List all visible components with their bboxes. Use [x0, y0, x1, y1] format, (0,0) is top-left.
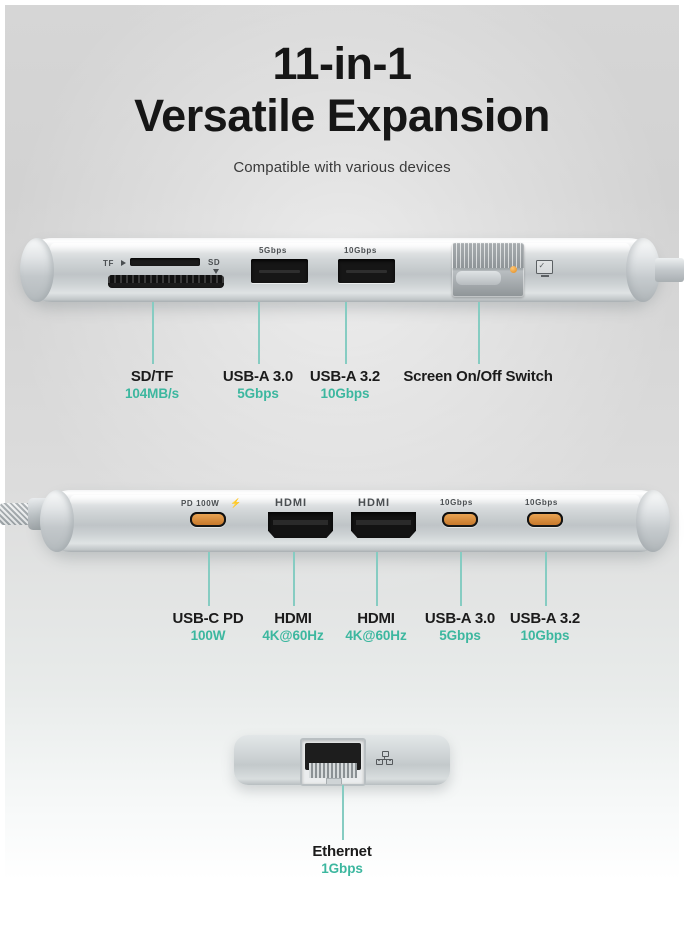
usba-5gbps-marking-label: 5Gbps [259, 246, 287, 255]
callout-usb-a-32-spec: 10Gbps [245, 386, 445, 402]
usbc-10gbps-marking-label-1: 10Gbps [440, 498, 473, 507]
tf-card-slot[interactable] [130, 258, 200, 266]
strip-front-highlight [50, 243, 630, 253]
hub-strip-front: TF SD 5Gbps 10Gbps ✓ [20, 238, 660, 302]
switch-status-indicator [510, 266, 517, 273]
usb-c-port-10gbps-2[interactable] [527, 512, 563, 527]
leader-line-ethernet [342, 785, 344, 840]
leader-line-screen-switch [478, 302, 480, 364]
callout-usb-a-32-b: USB-A 3.2 10Gbps [445, 610, 645, 644]
usb-a-port-5gbps[interactable] [251, 259, 308, 283]
sd-marking-label: SD [208, 258, 220, 267]
usb-a-port-10gbps[interactable] [338, 259, 395, 283]
header-block: 11-in-1 Versatile Expansion Compatible w… [0, 40, 684, 176]
leader-line-usb-a-32-b [545, 552, 547, 606]
ethernet-module [234, 735, 450, 785]
monitor-check-glyph: ✓ [539, 262, 546, 270]
rj45-ethernet-port[interactable] [300, 738, 366, 786]
sd-arrow-icon [213, 269, 219, 274]
callout-ethernet: Ethernet 1Gbps [242, 843, 442, 877]
callout-screen-switch-label: Screen On/Off Switch [378, 368, 578, 385]
callout-ethernet-label: Ethernet [242, 843, 442, 860]
usba-10gbps-marking-label: 10Gbps [344, 246, 377, 255]
tf-arrow-icon [121, 260, 126, 266]
switch-knob[interactable] [456, 271, 501, 285]
hdmi-marking-label-1: HDMI [275, 497, 307, 509]
tf-marking-label: TF [103, 259, 114, 268]
usb-c-port-10gbps-1[interactable] [442, 512, 478, 527]
leader-line-sd-tf [152, 302, 154, 364]
front-strip-cable-stub [655, 258, 684, 282]
leader-line-usb-c-pd [208, 552, 210, 606]
sd-card-slot[interactable] [108, 275, 224, 288]
callout-ethernet-spec: 1Gbps [242, 861, 442, 877]
leader-line-usb-a-30-b [460, 552, 462, 606]
hdmi-marking-label-2: HDMI [358, 497, 390, 509]
switch-ridges [452, 243, 524, 268]
title-line-2: Versatile Expansion [0, 91, 684, 141]
subtitle: Compatible with various devices [0, 159, 684, 176]
title-line-1: 11-in-1 [0, 40, 684, 89]
power-bolt-icon: ⚡ [230, 498, 241, 509]
callout-screen-switch: Screen On/Off Switch [378, 368, 578, 386]
strip-rear-left-cap [40, 490, 74, 552]
usb-c-pd-port[interactable] [190, 512, 226, 527]
hub-strip-rear: PD 100W ⚡ HDMI HDMI 10Gbps 10Gbps [40, 490, 670, 552]
strip-front-left-cap [20, 238, 54, 302]
leader-line-hdmi-1 [293, 552, 295, 606]
rj45-latch-tab [326, 778, 343, 786]
pd-marking-label: PD 100W [181, 499, 219, 508]
hdmi-port-2[interactable] [351, 512, 416, 538]
strip-rear-right-cap [636, 490, 670, 552]
leader-line-usb-a-30 [258, 302, 260, 364]
leader-line-hdmi-2 [376, 552, 378, 606]
callout-usb-a-32-b-label: USB-A 3.2 [445, 610, 645, 627]
usbc-10gbps-marking-label-2: 10Gbps [525, 498, 558, 507]
rj45-pins [309, 763, 356, 778]
callout-usb-a-32-b-spec: 10Gbps [445, 628, 645, 644]
infographic-page: 11-in-1 Versatile Expansion Compatible w… [0, 0, 684, 933]
leader-line-usb-a-32 [345, 302, 347, 364]
display-monitor-icon: ✓ [536, 260, 553, 274]
hdmi-port-1[interactable] [268, 512, 333, 538]
network-topology-icon [376, 751, 393, 765]
